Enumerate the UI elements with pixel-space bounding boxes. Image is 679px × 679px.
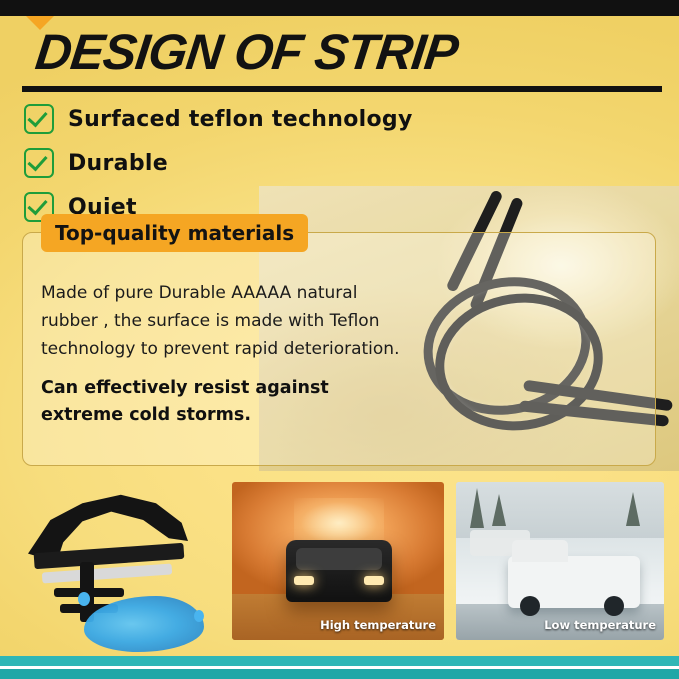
list-item: Durable [24,148,544,178]
quality-card: Top-quality materials Made of pure Durab… [22,232,656,466]
infographic-page: DESIGN OF STRIP Surfaced teflon technolo… [0,0,679,679]
photo-caption: Low temperature [544,618,656,632]
card-highlight: Can effectively resist against extreme c… [41,375,411,429]
title-underline-rule [22,86,662,92]
headlight-left [294,576,314,585]
water-drop-icon [78,592,90,606]
suv-vehicle [286,540,392,602]
windshield [296,548,382,570]
truck-wheel-rear [604,596,624,616]
feature-label: Surfaced teflon technology [68,107,413,132]
page-title: DESIGN OF STRIP [32,22,659,82]
quality-card-body: Made of pure Durable AAAAA natural rubbe… [41,279,411,429]
list-item: Surfaced teflon technology [24,104,544,134]
low-temperature-photo: Low temperature [456,482,664,640]
feature-label: Durable [68,151,168,176]
teal-bar-bottom [0,669,679,679]
teal-bar-top [0,656,679,666]
wiper-blade-illustration [18,484,218,644]
truck-cab [512,540,568,562]
quality-badge: Top-quality materials [41,214,308,252]
check-square-icon [24,148,54,178]
bottom-image-row: High temperature Low temperature [0,476,679,654]
photo-caption: High temperature [320,618,436,632]
card-paragraph: Made of pure Durable AAAAA natural rubbe… [41,279,411,363]
high-temperature-photo: High temperature [232,482,444,640]
water-drop-icon [194,610,204,622]
headlight-right [364,576,384,585]
check-square-icon [24,104,54,134]
pickup-truck [508,556,640,608]
truck-wheel-front [520,596,540,616]
top-dark-band [0,0,679,16]
